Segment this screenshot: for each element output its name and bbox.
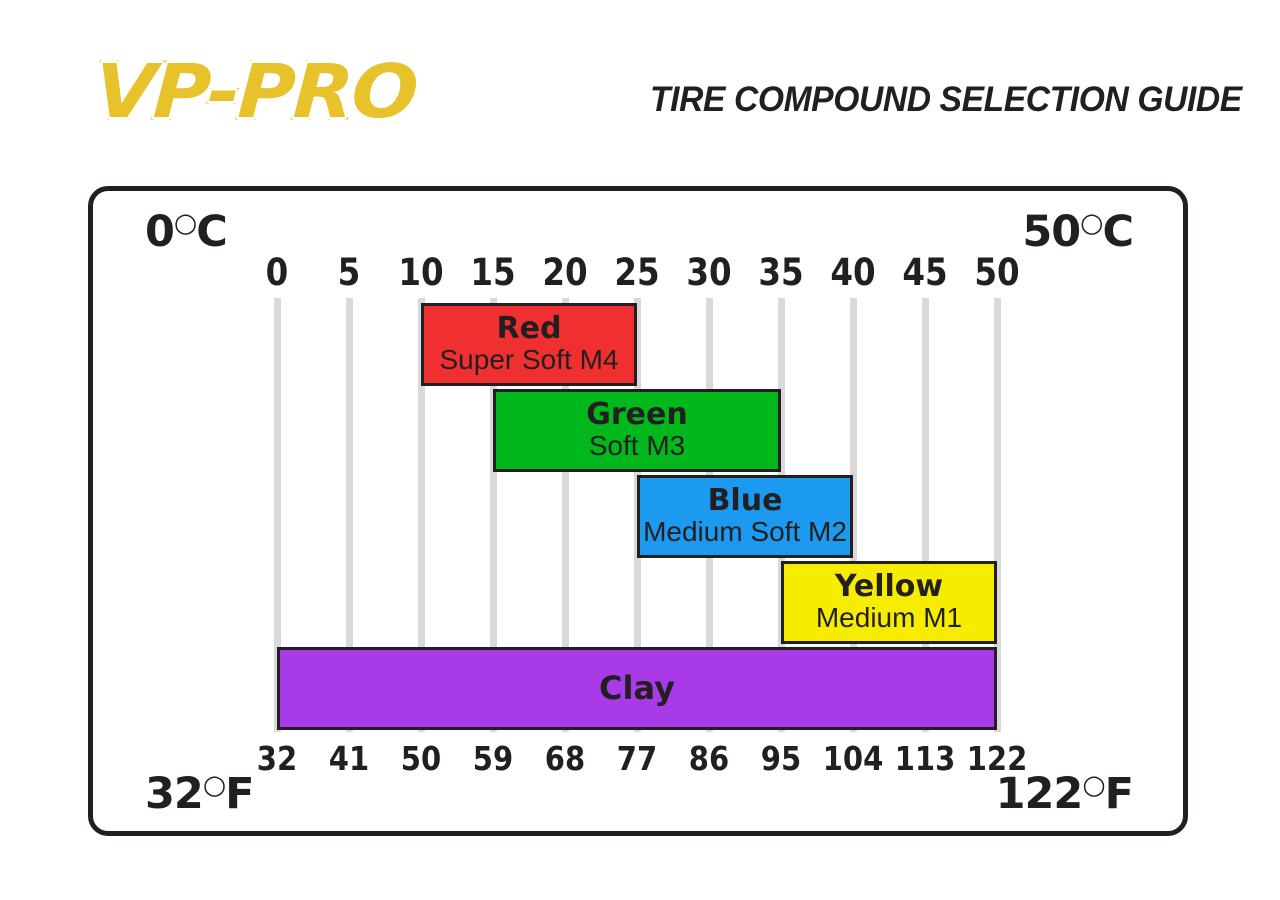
fahrenheit-tick-59: 59	[473, 739, 513, 779]
compound-name: Red	[497, 314, 562, 345]
compound-name: Blue	[708, 486, 783, 517]
compound-description: Medium Soft M2	[643, 517, 847, 547]
compound-name: Yellow	[835, 572, 943, 603]
celsius-tick-15: 15	[470, 253, 515, 293]
vp-pro-logo-text: VP-PRO	[93, 48, 511, 136]
fahrenheit-tick-113: 113	[895, 739, 956, 779]
fahrenheit-tick-row: 3241505968778695104113122	[93, 739, 1183, 779]
fahrenheit-tick-95: 95	[761, 739, 801, 779]
compound-bar-clay[interactable]: Clay	[277, 647, 997, 730]
fahrenheit-tick-68: 68	[545, 739, 585, 779]
compound-bar-yellow[interactable]: YellowMedium M1	[781, 561, 997, 644]
vp-pro-logo: VP-PRO	[95, 48, 485, 136]
fahrenheit-tick-32: 32	[257, 739, 297, 779]
fahrenheit-tick-104: 104	[823, 739, 884, 779]
compound-description: Soft M3	[589, 431, 685, 461]
page-header: VP-PRO TIRE COMPOUND SELECTION GUIDE	[0, 0, 1280, 175]
celsius-tick-5: 5	[338, 253, 361, 293]
celsius-tick-50: 50	[974, 253, 1019, 293]
celsius-tick-30: 30	[686, 253, 731, 293]
celsius-tick-35: 35	[758, 253, 803, 293]
fahrenheit-tick-50: 50	[401, 739, 441, 779]
tire-compound-guide-page: VP-PRO TIRE COMPOUND SELECTION GUIDE 0○C…	[0, 0, 1280, 900]
celsius-tick-45: 45	[902, 253, 947, 293]
compound-description: Super Soft M4	[440, 345, 619, 375]
compound-name: Clay	[599, 672, 675, 705]
compound-name: Green	[586, 400, 687, 431]
compound-bar-green[interactable]: GreenSoft M3	[493, 389, 781, 472]
celsius-tick-row: 05101520253035404550	[93, 253, 1183, 293]
fahrenheit-tick-122: 122	[967, 739, 1028, 779]
compound-bars: RedSuper Soft M4GreenSoft M3BlueMedium S…	[93, 303, 1183, 733]
page-title: TIRE COMPOUND SELECTION GUIDE	[650, 80, 1242, 120]
celsius-tick-20: 20	[542, 253, 587, 293]
celsius-tick-25: 25	[614, 253, 659, 293]
fahrenheit-tick-77: 77	[617, 739, 657, 779]
compound-description: Medium M1	[816, 603, 962, 633]
fahrenheit-tick-41: 41	[329, 739, 369, 779]
celsius-tick-10: 10	[398, 253, 443, 293]
compound-bar-red[interactable]: RedSuper Soft M4	[421, 303, 637, 386]
celsius-tick-40: 40	[830, 253, 875, 293]
compound-bar-blue[interactable]: BlueMedium Soft M2	[637, 475, 853, 558]
celsius-tick-0: 0	[266, 253, 289, 293]
chart-panel: 0○C 50○C 32○F 122○F 05101520253035404550…	[88, 186, 1188, 836]
fahrenheit-tick-86: 86	[689, 739, 729, 779]
temperature-chart: 05101520253035404550 RedSuper Soft M4Gre…	[93, 191, 1183, 831]
